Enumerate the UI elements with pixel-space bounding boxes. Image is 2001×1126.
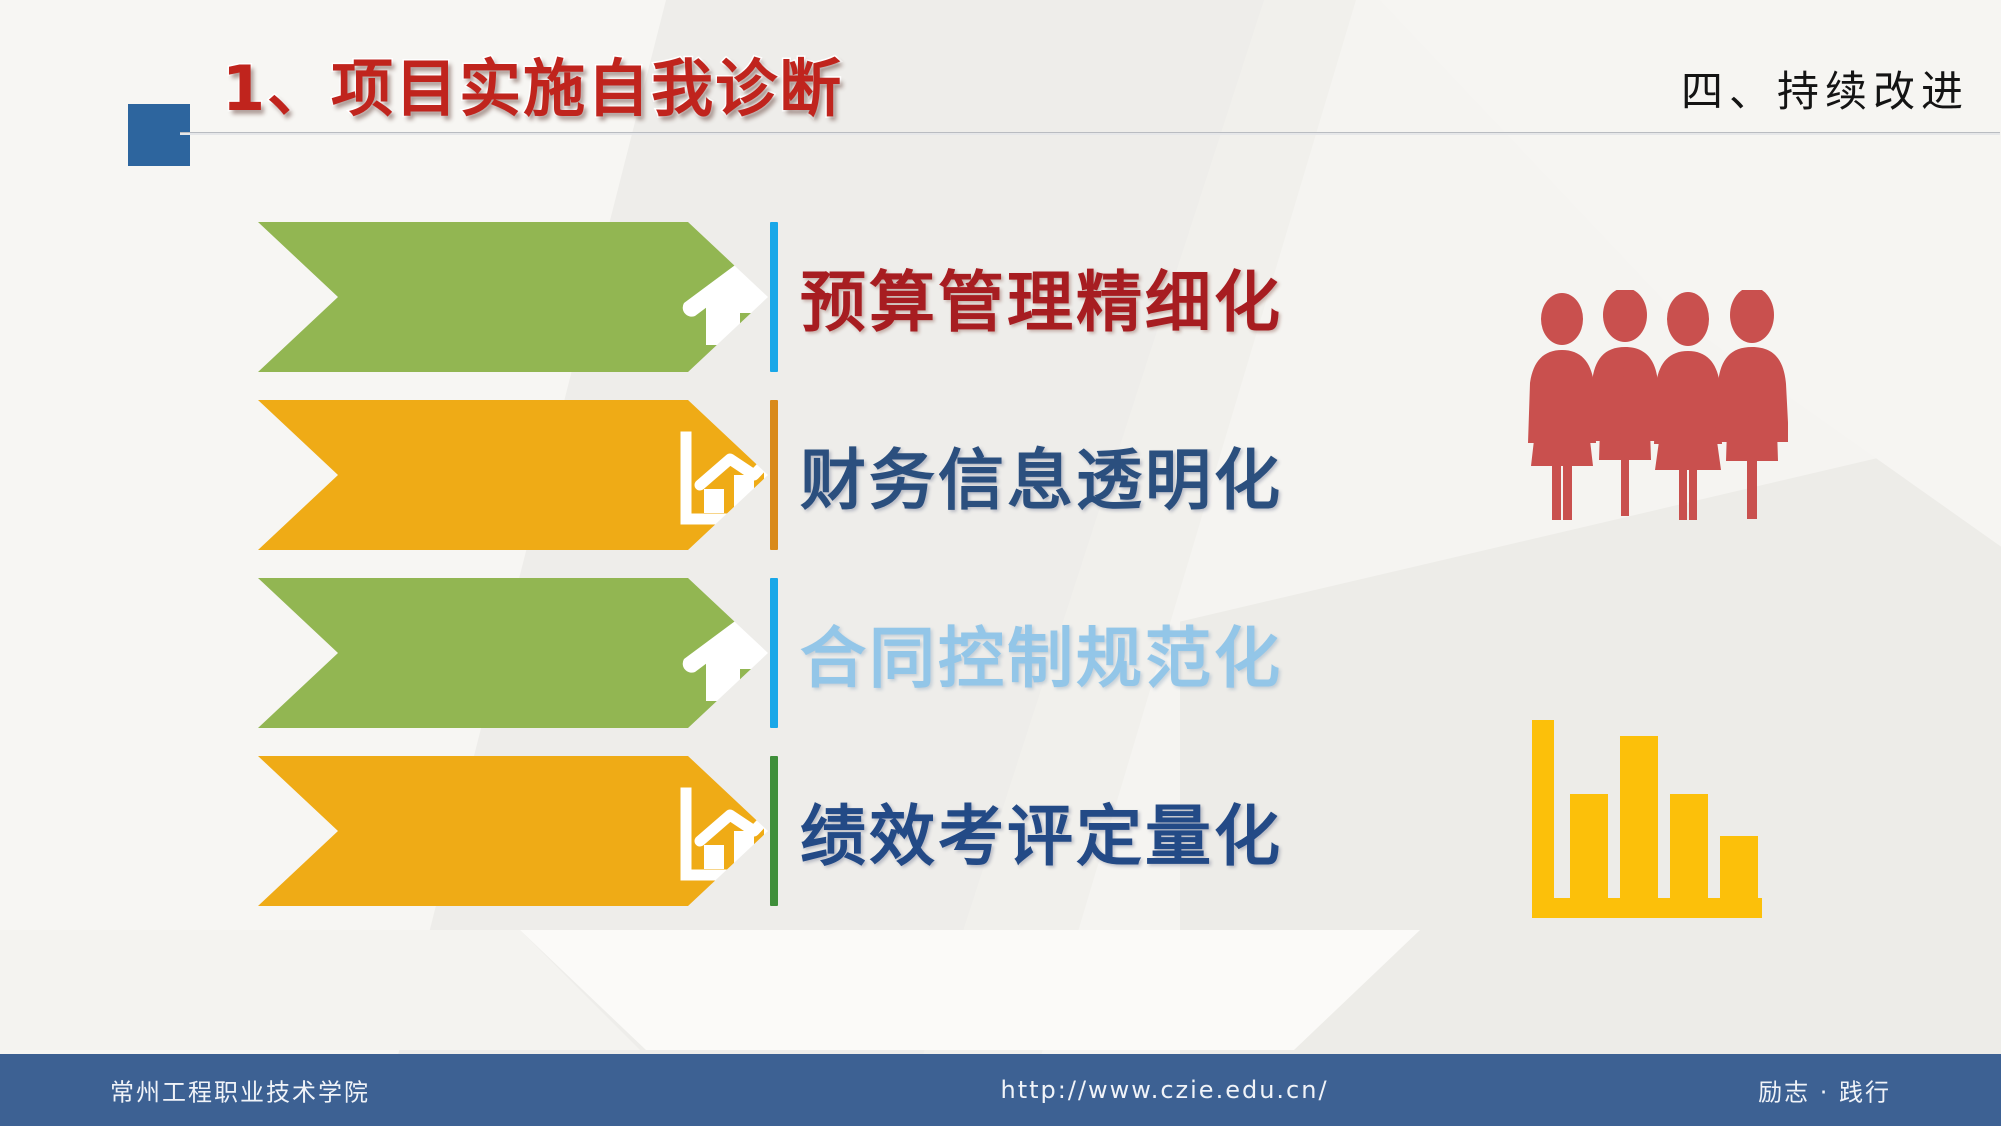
row-label-3: 合同控制规范化 bbox=[800, 605, 1283, 701]
section-label: 四、持续改进 bbox=[1681, 58, 1969, 119]
four-people-group-icon bbox=[1528, 290, 1788, 520]
row-divider-3 bbox=[770, 578, 778, 728]
chart-bar-2 bbox=[1620, 736, 1658, 898]
header-divider-rule bbox=[180, 132, 2000, 135]
footer-motto: 励志 · 践行 bbox=[1758, 1073, 1891, 1108]
row-divider-2 bbox=[770, 400, 778, 550]
row-divider-1 bbox=[770, 222, 778, 372]
chart-bar-1 bbox=[1570, 794, 1608, 898]
row-label-1: 预算管理精细化 bbox=[800, 249, 1283, 345]
background-facet-7 bbox=[520, 930, 1420, 1050]
footer-organization: 常州工程职业技术学院 bbox=[110, 1073, 370, 1108]
presentation-slide: 1、项目实施自我诊断 四、持续改进 预算管理精细化 bbox=[0, 0, 2001, 1126]
chart-bar-3 bbox=[1670, 794, 1708, 898]
slide-footer: 常州工程职业技术学院 http://www.czie.edu.cn/ 励志 · … bbox=[0, 1054, 2001, 1126]
row-divider-4 bbox=[770, 756, 778, 906]
row-label-4: 绩效考评定量化 bbox=[800, 783, 1283, 879]
chart-bar-4 bbox=[1720, 836, 1758, 898]
footer-url[interactable]: http://www.czie.edu.cn/ bbox=[1001, 1076, 1329, 1104]
bar-chart-icon bbox=[1528, 712, 1778, 934]
page-title: 1、项目实施自我诊断 bbox=[222, 38, 843, 128]
title-accent-square bbox=[128, 104, 190, 166]
row-label-2: 财务信息透明化 bbox=[800, 427, 1283, 523]
